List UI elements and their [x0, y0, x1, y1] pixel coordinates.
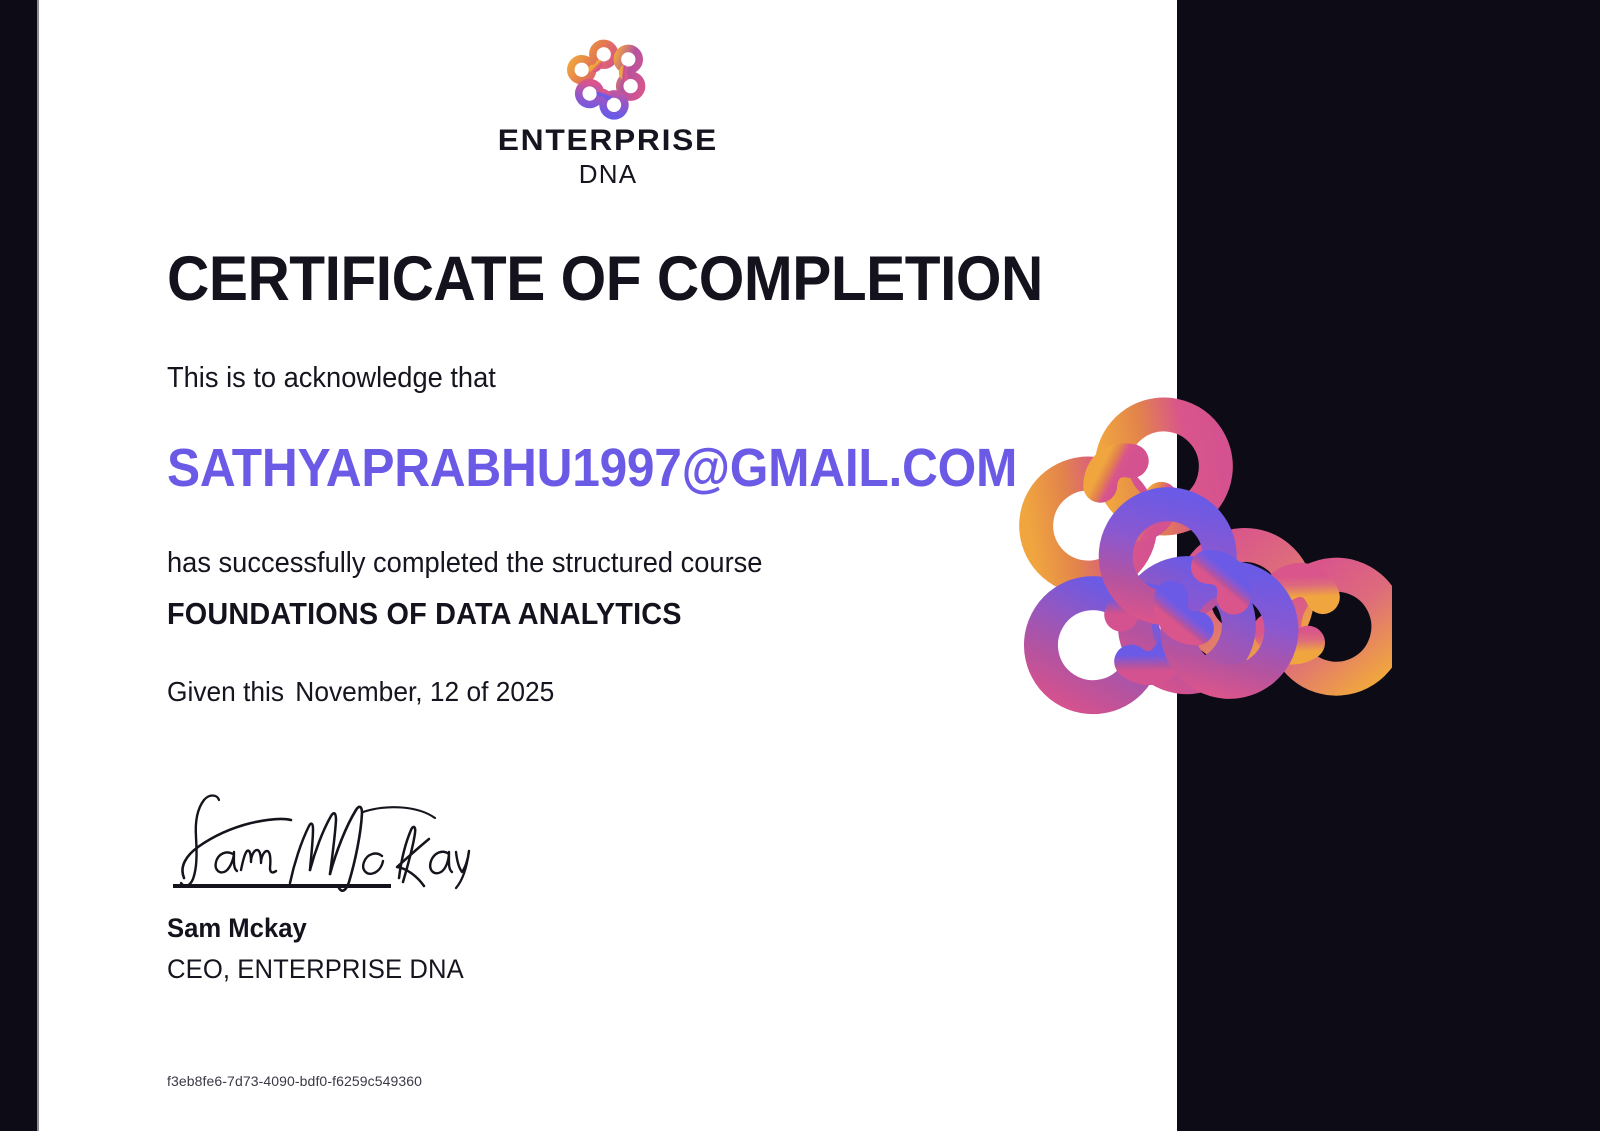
brand-header: ENTERPRISE DNA	[39, 36, 1177, 187]
enterprise-dna-flower-icon	[566, 36, 650, 120]
left-dark-gutter	[0, 0, 37, 1131]
signer-title: CEO, ENTERPRISE DNA	[167, 954, 661, 985]
signature-rule	[173, 884, 391, 888]
right-dark-panel	[1177, 0, 1600, 1131]
acknowledge-line: This is to acknowledge that	[167, 362, 1069, 395]
signer-name: Sam Mckay	[167, 913, 661, 944]
brand-name-secondary: DNA	[579, 161, 638, 187]
completion-line: has successfully completed the structure…	[167, 547, 1069, 580]
recipient-name: SATHYAPRABHU1997@GMAIL.COM	[167, 439, 1050, 498]
brand-name-primary: ENTERPRISE	[498, 126, 718, 156]
certificate-page: ENTERPRISE DNA CERTIFICATE OF COMPLETION…	[0, 0, 1600, 1131]
certificate-id: f3eb8fe6-7d73-4090-bdf0-f6259c549360	[167, 1073, 422, 1089]
handwritten-signature-icon	[173, 782, 473, 892]
date-label: Given this	[167, 676, 284, 707]
certificate-title: CERTIFICATE OF COMPLETION	[167, 246, 1060, 312]
date-line: Given thisNovember, 12 of 2025	[167, 676, 1069, 708]
signature-block: Sam Mckay CEO, ENTERPRISE DNA	[167, 782, 687, 985]
date-value: November, 12 of 2025	[295, 676, 554, 707]
brand-wordmark: ENTERPRISE DNA	[504, 126, 712, 187]
certificate-card: ENTERPRISE DNA CERTIFICATE OF COMPLETION…	[39, 0, 1177, 1131]
certificate-body: CERTIFICATE OF COMPLETION This is to ack…	[167, 246, 1127, 708]
course-name: FOUNDATIONS OF DATA ANALYTICS	[167, 596, 1060, 632]
